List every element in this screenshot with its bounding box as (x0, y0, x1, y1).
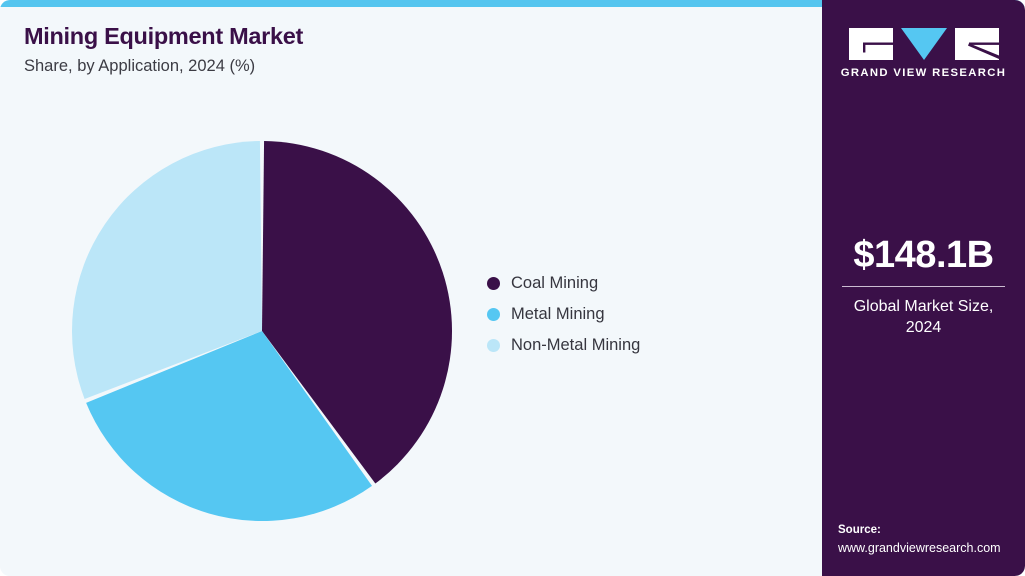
legend-swatch-metal-mining (487, 308, 500, 321)
pie-slice-group (72, 141, 452, 521)
infographic-card: Mining Equipment Market Share, by Applic… (0, 0, 1025, 576)
logo-g-mark (849, 28, 893, 60)
legend-label-metal-mining: Metal Mining (511, 305, 605, 324)
page-title: Mining Equipment Market (24, 22, 664, 50)
legend-label-coal-mining: Coal Mining (511, 274, 598, 293)
logo-marks-svg (849, 28, 999, 60)
source-block: Source: www.grandviewresearch.com (838, 522, 1015, 557)
logo-v-triangle (901, 28, 947, 60)
stat-value: $148.1B (836, 236, 1011, 276)
pie-chart-svg (62, 131, 462, 531)
legend-swatch-non-metal-mining (487, 339, 500, 352)
brand-sidebar: GRAND VIEW RESEARCH $148.1B Global Marke… (822, 0, 1025, 576)
stat-caption: Global Market Size, 2024 (836, 296, 1011, 339)
logo-wordmark: GRAND VIEW RESEARCH (841, 67, 1007, 79)
legend-item-metal-mining[interactable]: Metal Mining (487, 299, 787, 330)
brand-logo: GRAND VIEW RESEARCH (822, 28, 1025, 79)
legend-item-coal-mining[interactable]: Coal Mining (487, 268, 787, 299)
market-size-stat: $148.1B Global Market Size, 2024 (836, 236, 1011, 339)
stat-divider (842, 286, 1005, 287)
legend-label-non-metal-mining: Non-Metal Mining (511, 336, 640, 355)
pie-chart (62, 131, 462, 531)
page-subtitle: Share, by Application, 2024 (%) (24, 56, 664, 77)
legend-item-non-metal-mining[interactable]: Non-Metal Mining (487, 330, 787, 361)
legend-swatch-coal-mining (487, 277, 500, 290)
chart-legend: Coal Mining Metal Mining Non-Metal Minin… (487, 268, 787, 361)
source-label: Source: (838, 522, 1015, 539)
title-block: Mining Equipment Market Share, by Applic… (24, 22, 664, 77)
logo-r-mark (955, 28, 999, 60)
source-url[interactable]: www.grandviewresearch.com (838, 540, 1015, 558)
